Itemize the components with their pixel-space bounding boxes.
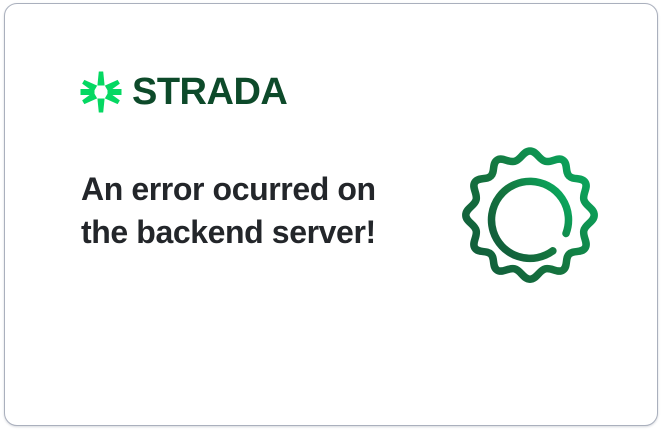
brand-wordmark: STRADA: [132, 73, 287, 111]
asterisk-snowflake-icon: [79, 70, 123, 114]
brand-logo: STRADA: [79, 70, 287, 114]
gear-cog-icon: [449, 142, 611, 304]
error-card: STRADA An error ocurred on the backend s…: [4, 3, 658, 426]
error-page-screen: STRADA An error ocurred on the backend s…: [0, 0, 666, 436]
error-headline: An error ocurred on the backend server!: [81, 168, 381, 254]
strada-mark: [79, 70, 123, 114]
